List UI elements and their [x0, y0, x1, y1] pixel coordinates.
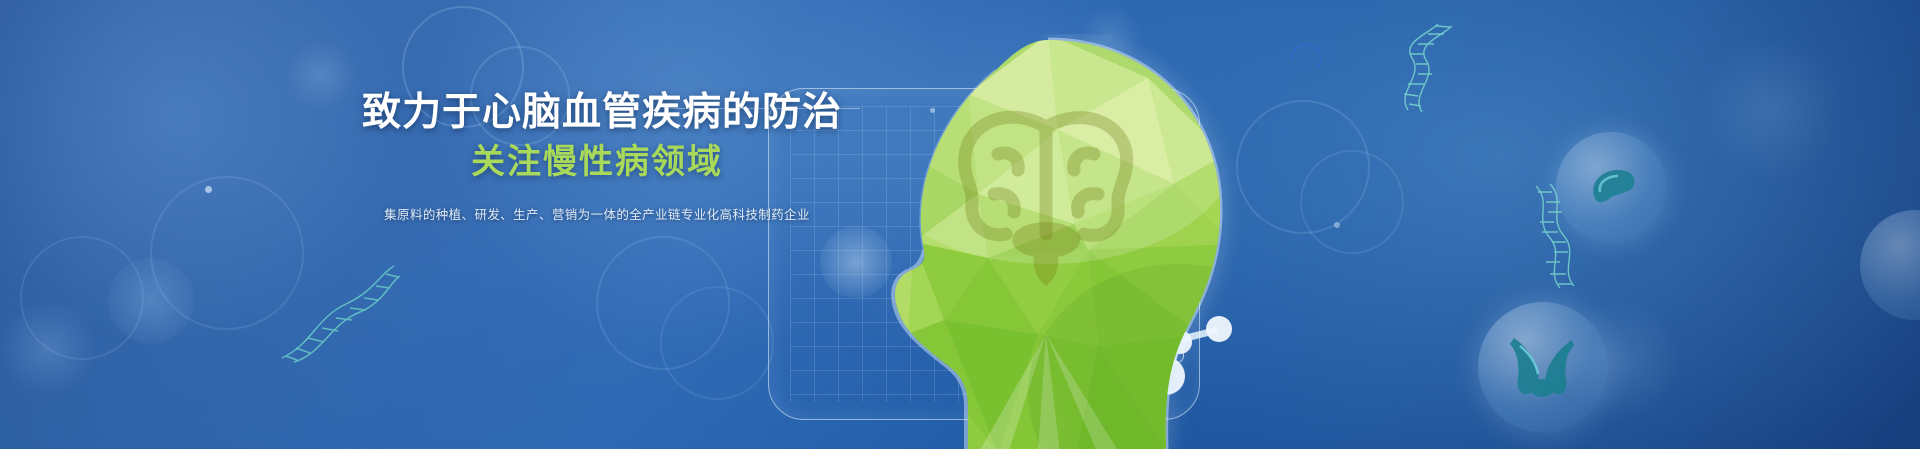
bokeh-ring	[1300, 150, 1404, 254]
description-text: 集原料的种植、研发、生产、营销为一体的全产业链专业化高科技制药企业	[362, 204, 832, 223]
banner-copy: 致力于心脑血管疾病的防治 关注慢性病领域 集原料的种植、研发、生产、营销为一体的…	[362, 92, 832, 223]
bokeh-dot	[0, 300, 96, 396]
low-poly-head-graphic	[848, 34, 1268, 449]
sparkle-dot	[205, 186, 212, 193]
bokeh-ring	[660, 286, 774, 400]
hero-banner: 致力于心脑血管疾病的防治 关注慢性病领域 集原料的种植、研发、生产、营销为一体的…	[0, 0, 1920, 449]
bacterium-icon	[1584, 162, 1640, 212]
cell-bubble	[1860, 210, 1920, 320]
bacterium-icon	[1504, 330, 1580, 402]
subheadline: 关注慢性病领域	[362, 144, 832, 181]
bokeh-ring	[596, 236, 730, 370]
bokeh-ring	[20, 236, 144, 360]
sparkle-dot	[1334, 222, 1340, 228]
headline-prefix: 致力于	[362, 91, 482, 134]
headline-emphasis: 心脑血管疾病	[482, 91, 722, 134]
bokeh-dot	[1700, 40, 1840, 180]
headline-suffix: 的防治	[722, 91, 842, 134]
dna-helix-icon	[1394, 22, 1464, 114]
bokeh-dot	[108, 258, 194, 344]
headline: 致力于心脑血管疾病的防治	[362, 92, 832, 134]
bokeh-dot	[286, 40, 356, 110]
microbe-speck-icon	[1288, 40, 1328, 74]
dna-helix-icon	[272, 258, 402, 366]
